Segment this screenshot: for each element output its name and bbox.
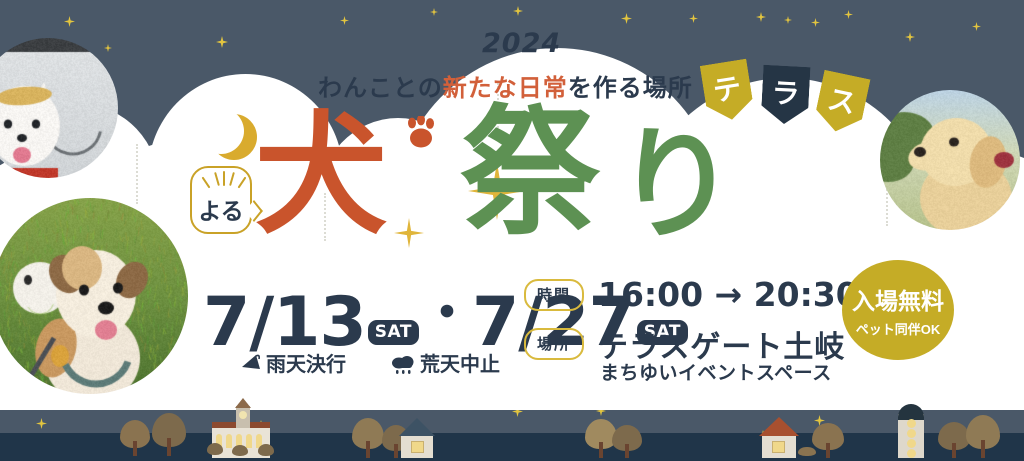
title-char-ri: り xyxy=(615,124,737,246)
tree xyxy=(207,443,223,458)
storm-note: 荒天中止 xyxy=(420,354,500,376)
dotted-guide-left xyxy=(136,144,138,204)
golden-retriever-photo xyxy=(880,90,1020,230)
yoru-label: よる xyxy=(192,192,250,226)
time-row: 時間 16:00 → 20:30 xyxy=(524,275,859,314)
storm-cloud-icon xyxy=(390,353,416,375)
terrier-photo xyxy=(0,198,188,394)
tree xyxy=(152,413,186,456)
house-left xyxy=(398,418,436,458)
event-poster: 2024 わんことの新たな日常を作る場所 よる 犬 祭 り xyxy=(0,0,1024,461)
rain-note: 雨天決行 xyxy=(266,354,346,376)
place-sub: まちゆいイベントスペース xyxy=(600,358,832,385)
house-right xyxy=(758,417,800,458)
badge-sub: ペット同伴OK xyxy=(856,319,941,338)
time-value: 16:00 → 20:30 xyxy=(598,275,859,314)
title-char-inu: 犬 xyxy=(255,110,387,242)
year-label: 2024 xyxy=(482,28,561,59)
subtitle-pre: わんことの xyxy=(318,75,443,102)
tree xyxy=(258,444,274,459)
free-admission-badge: 入場無料 ペット同伴OK xyxy=(842,260,954,360)
time-label: 時間 xyxy=(524,279,584,311)
paw-print-icon xyxy=(403,116,439,150)
date-separator: ・ xyxy=(421,284,472,344)
tree xyxy=(352,418,384,458)
tree xyxy=(612,425,642,458)
weather-notes: 雨天決行 荒天中止 xyxy=(240,348,500,377)
signal-tower xyxy=(898,404,924,458)
date-first-day: SAT xyxy=(368,320,419,345)
tree xyxy=(966,415,1000,458)
umbrella-icon xyxy=(240,353,262,375)
tree xyxy=(812,423,844,458)
tree xyxy=(232,445,248,459)
place-label: 場所 xyxy=(524,328,584,360)
title-char-matsuri-green: 祭 xyxy=(460,104,600,244)
tree xyxy=(120,420,150,456)
badge-main: 入場無料 xyxy=(852,282,944,316)
